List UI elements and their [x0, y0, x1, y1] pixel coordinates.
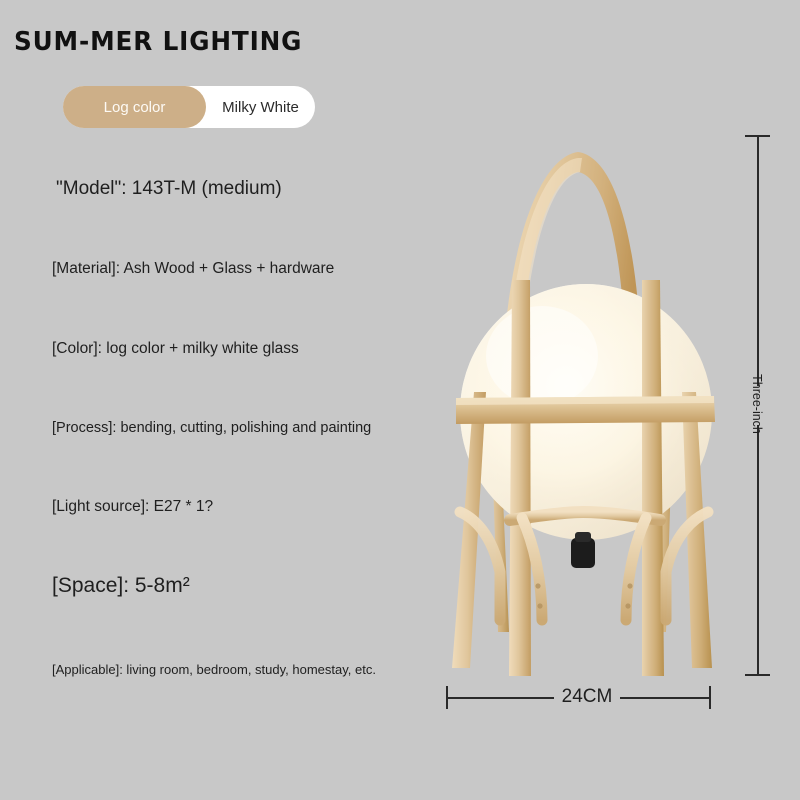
- spec-model: "Model": 143T-M (medium): [56, 178, 282, 200]
- product-spec-page: SUM-MER LIGHTING Log color Milky White "…: [0, 0, 800, 800]
- spec-applicable: [Applicable]: living room, bedroom, stud…: [52, 662, 376, 677]
- lamp-horizontal-band: [456, 396, 715, 424]
- height-dimension-tick-top: [745, 135, 770, 137]
- lamp-screw-details: [535, 583, 632, 608]
- height-dimension-line-top: [757, 136, 759, 386]
- height-dimension-tick-bottom: [745, 674, 770, 676]
- spec-space: [Space]: 5-8m²: [52, 574, 190, 598]
- specification-list: "Model": 143T-M (medium) [Material]: Ash…: [0, 0, 440, 800]
- width-dimension-tick-right: [709, 686, 711, 709]
- width-dimension-line-right: [620, 697, 710, 699]
- height-dimension-line-bottom: [757, 425, 759, 675]
- spec-color: [Color]: log color + milky white glass: [52, 340, 299, 358]
- width-dimension-label: 24CM: [562, 686, 613, 708]
- spec-light-source: [Light source]: E27 * 1?: [52, 498, 213, 516]
- product-image-lamp: [430, 120, 730, 690]
- width-dimension-line-left: [447, 697, 554, 699]
- height-dimension-label: Three-inch: [750, 374, 764, 434]
- spec-process: [Process]: bending, cutting, polishing a…: [52, 420, 371, 436]
- spec-material: [Material]: Ash Wood + Glass + hardware: [52, 260, 334, 278]
- width-dimension-tick-left: [446, 686, 448, 709]
